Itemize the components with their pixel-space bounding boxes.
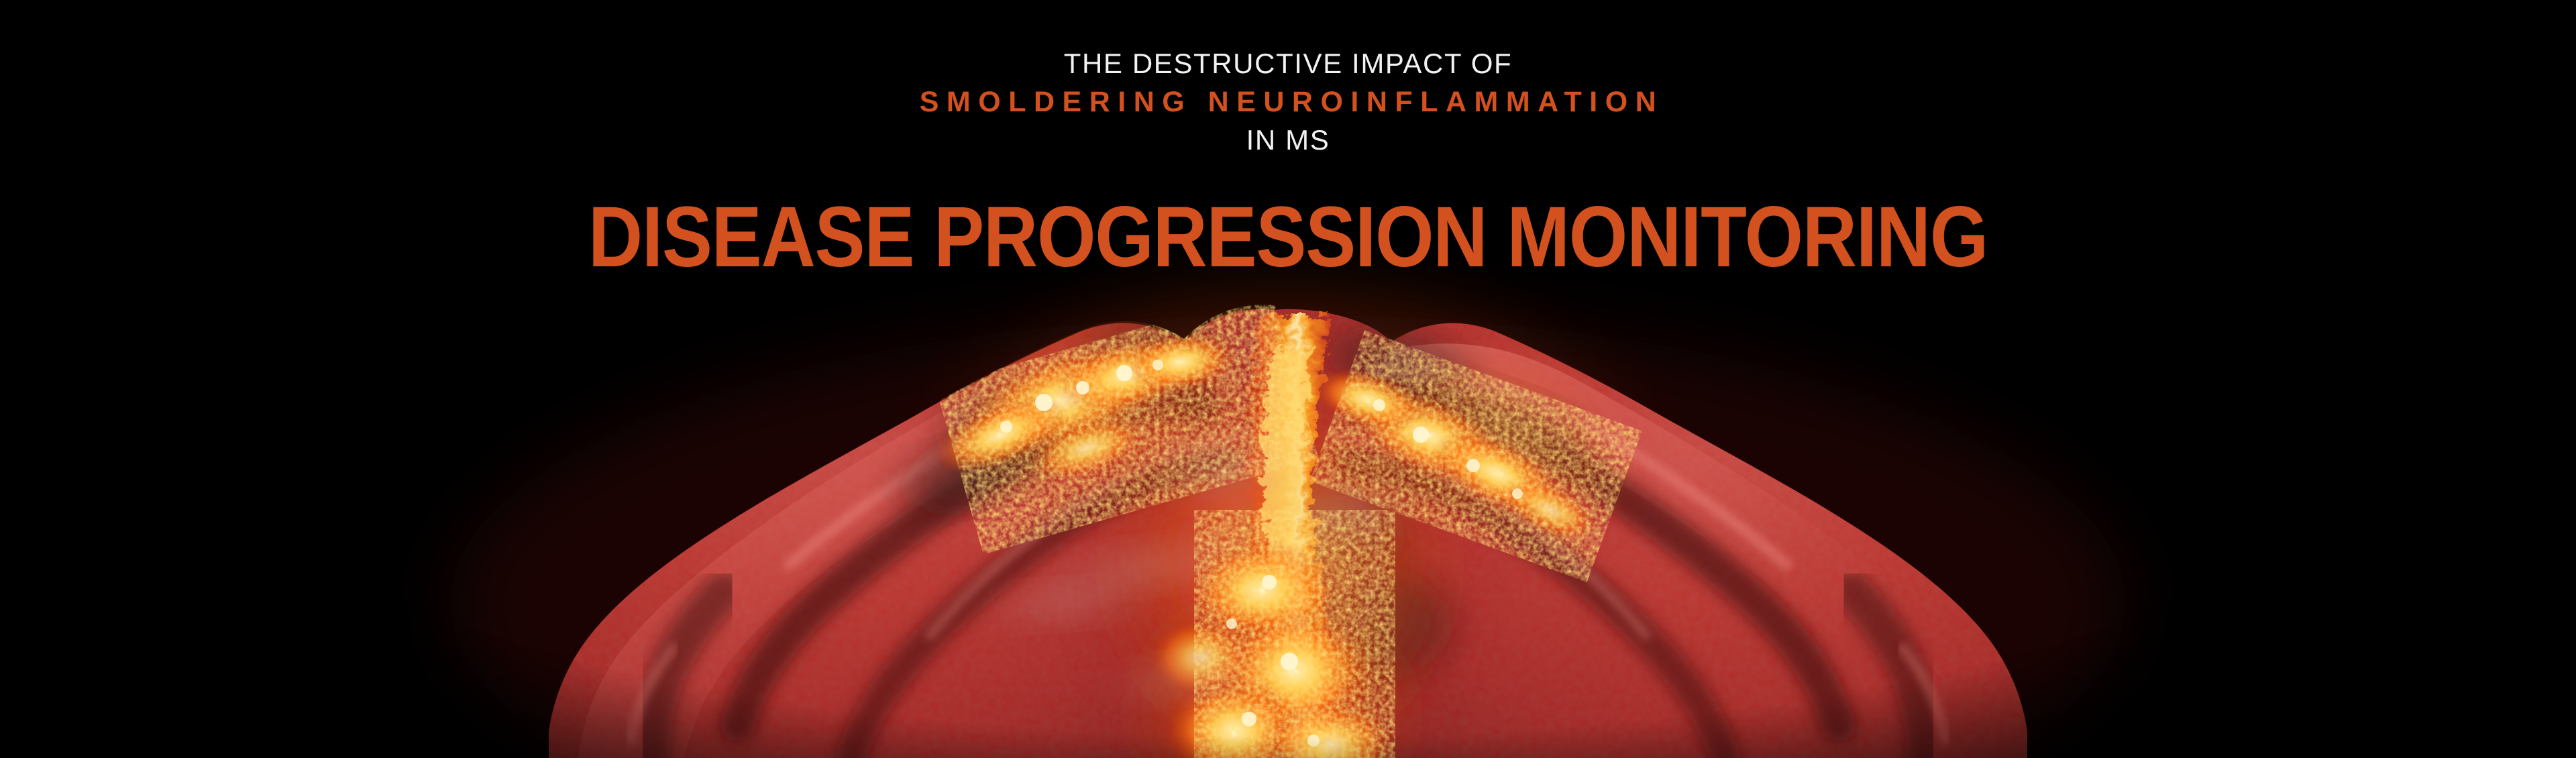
- slide-stage: THE DESTRUCTIVE IMPACT OF SMOLDERING NEU…: [0, 0, 2576, 758]
- eyebrow-line-in-ms: IN MS: [0, 123, 2576, 157]
- eyebrow-block: THE DESTRUCTIVE IMPACT OF SMOLDERING NEU…: [0, 47, 2576, 157]
- headline-overlay: THE DESTRUCTIVE IMPACT OF SMOLDERING NEU…: [0, 0, 2576, 758]
- page-title: DISEASE PROGRESSION MONITORING: [154, 193, 2421, 282]
- eyebrow-line-destructive-impact: THE DESTRUCTIVE IMPACT OF: [0, 47, 2576, 80]
- eyebrow-line-smoldering-neuroinflammation: SMOLDERING NEUROINFLAMMATION: [0, 80, 2576, 123]
